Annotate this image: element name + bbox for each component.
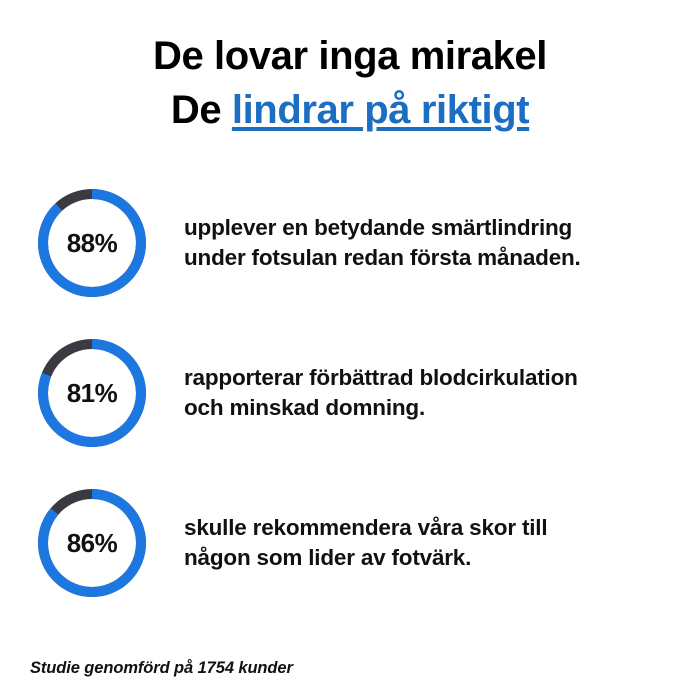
headline-line-2: De lindrar på riktigt (0, 86, 700, 135)
donut-percent-label: 88% (36, 187, 148, 299)
infographic-page: De lovar inga mirakel De lindrar på rikt… (0, 0, 700, 700)
donut-chart-0: 88% (36, 187, 148, 299)
donut-chart-2: 86% (36, 487, 148, 599)
donut-chart-1: 81% (36, 337, 148, 449)
stat-description-line: upplever en betydande smärtlindring (184, 213, 581, 243)
donut-percent-label: 81% (36, 337, 148, 449)
headline-line-1: De lovar inga mirakel (0, 32, 700, 81)
stat-row: 86% skulle rekommendera våra skor till n… (0, 468, 700, 618)
stat-description-line: och minskad domning. (184, 393, 578, 423)
stat-description-line: rapporterar förbättrad blodcirkulation (184, 363, 578, 393)
stat-description-line: någon som lider av fotvärk. (184, 543, 547, 573)
stat-row: 81% rapporterar förbättrad blodcirkulati… (0, 318, 700, 468)
study-footnote: Studie genomförd på 1754 kunder (30, 659, 293, 678)
headline-prefix: De (171, 88, 232, 132)
stat-description: upplever en betydande smärtlindring unde… (184, 213, 581, 272)
stat-description-line: skulle rekommendera våra skor till (184, 513, 547, 543)
stats-list: 88% upplever en betydande smärtlindring … (0, 168, 700, 618)
headline-accent-text: lindrar på riktigt (232, 88, 529, 132)
stat-description: rapporterar förbättrad blodcirkulation o… (184, 363, 578, 422)
donut-percent-label: 86% (36, 487, 148, 599)
stat-description: skulle rekommendera våra skor till någon… (184, 513, 547, 572)
stat-description-line: under fotsulan redan första månaden. (184, 243, 581, 273)
stat-row: 88% upplever en betydande smärtlindring … (0, 168, 700, 318)
headline-block: De lovar inga mirakel De lindrar på rikt… (0, 0, 700, 135)
